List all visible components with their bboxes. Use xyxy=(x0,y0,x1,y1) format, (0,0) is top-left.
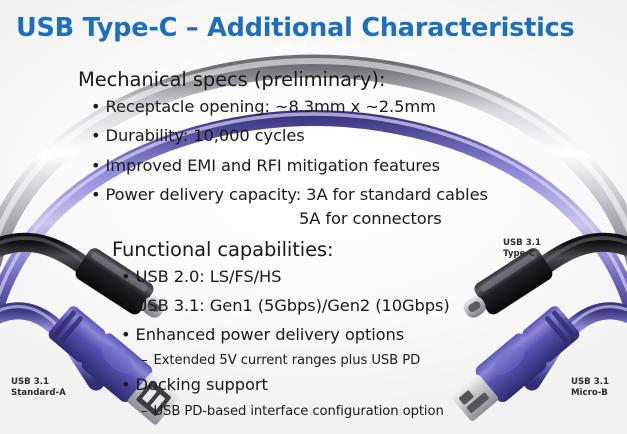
section-heading-functional-capabilities: Functional capabilities: xyxy=(112,238,334,261)
slide-canvas: USB Type-C – Additional Characteristics … xyxy=(0,0,627,434)
subbullet-usb-pd-interface-config: USB PD-based interface configuration opt… xyxy=(141,404,444,419)
connector-label-type-c-line1: USB 3.1 xyxy=(503,238,541,249)
connector-label-type-c-line2: Type-C xyxy=(503,249,541,260)
connector-label-standard-a-line2: Standard-A xyxy=(11,388,66,399)
connector-label-micro-b-line1: USB 3.1 xyxy=(571,377,609,388)
bullet-docking-support: Docking support xyxy=(121,375,268,394)
bullet-usb-3-1: USB 3.1: Gen1 (5Gbps)/Gen2 (10Gbps) xyxy=(121,296,450,315)
subbullet-extended-5v-current-ranges: Extended 5V current ranges plus USB PD xyxy=(141,353,420,368)
bullet-receptacle-opening: Receptacle opening: ~8.3mm x ~2.5mm xyxy=(91,97,436,116)
section-heading-mechanical-specs: Mechanical specs (preliminary): xyxy=(78,68,385,91)
bullet-usb-2-0: USB 2.0: LS/FS/HS xyxy=(121,267,281,286)
bullet-durability: Durability: 10,000 cycles xyxy=(91,126,305,145)
bullet-power-delivery-capacity-continuation: 5A for connectors xyxy=(299,209,442,228)
connector-label-micro-b: USB 3.1 Micro-B xyxy=(571,377,609,399)
bullet-enhanced-power-delivery: Enhanced power delivery options xyxy=(121,325,404,344)
bullet-power-delivery-capacity: Power delivery capacity: 3A for standard… xyxy=(91,185,488,204)
connector-label-micro-b-line2: Micro-B xyxy=(571,388,609,399)
bullet-emi-rfi-mitigation: Improved EMI and RFI mitigation features xyxy=(91,156,440,175)
connector-label-standard-a-line1: USB 3.1 xyxy=(11,377,66,388)
page-title: USB Type-C – Additional Characteristics xyxy=(16,13,575,43)
slide-text-layer: USB Type-C – Additional Characteristics … xyxy=(0,0,627,434)
connector-label-standard-a: USB 3.1 Standard-A xyxy=(11,377,66,399)
connector-label-type-c: USB 3.1 Type-C xyxy=(503,238,541,260)
